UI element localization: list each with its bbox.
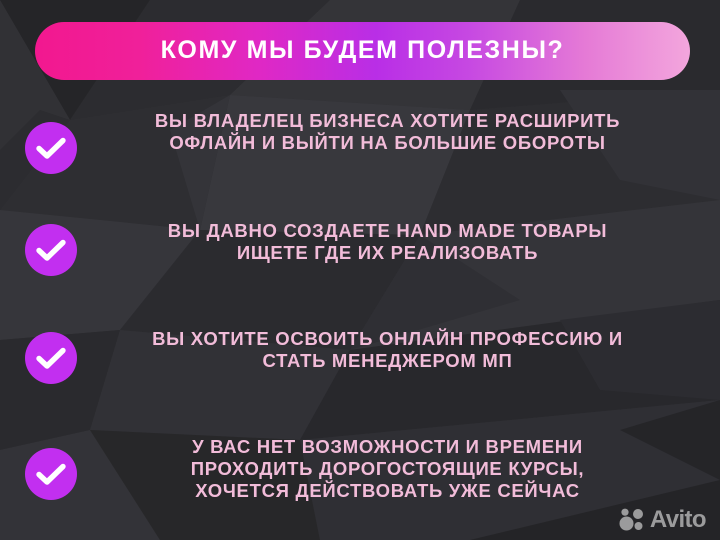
list-item: ВЫ ХОТИТЕ ОСВОИТЬ ОНЛАЙН ПРОФЕССИЮ И СТА…	[0, 326, 720, 414]
list-item-line: ОФЛАЙН И ВЫЙТИ НА БОЛЬШИЕ ОБОРОТЫ	[89, 132, 686, 154]
list-item-line: ВЫ ХОТИТЕ ОСВОИТЬ ОНЛАЙН ПРОФЕССИЮ И	[89, 328, 686, 350]
avito-wordmark: Avito	[650, 508, 706, 532]
check-icon	[25, 332, 77, 384]
check-icon	[25, 224, 77, 276]
list-item-line: ХОЧЕТСЯ ДЕЙСТВОВАТЬ УЖЕ СЕЙЧАС	[89, 480, 686, 502]
benefits-list: ВЫ ВЛАДЕЛЕЦ БИЗНЕСА ХОТИТЕ РАСШИРИТЬ ОФЛ…	[0, 108, 720, 522]
list-item-line: ПРОХОДИТЬ ДОРОГОСТОЯЩИЕ КУРСЫ,	[89, 458, 686, 480]
list-item: ВЫ ДАВНО СОЗДАЕТЕ HAND MADE ТОВАРЫ ИЩЕТЕ…	[0, 218, 720, 306]
slide-canvas: КОМУ МЫ БУДЕМ ПОЛЕЗНЫ? ВЫ ВЛАДЕЛЕЦ БИЗНЕ…	[0, 0, 720, 540]
list-item: У ВАС НЕТ ВОЗМОЖНОСТИ И ВРЕМЕНИ ПРОХОДИТ…	[0, 434, 720, 522]
list-item-text: ВЫ ВЛАДЕЛЕЦ БИЗНЕСА ХОТИТЕ РАСШИРИТЬ ОФЛ…	[89, 108, 686, 154]
page-title: КОМУ МЫ БУДЕМ ПОЛЕЗНЫ?	[161, 38, 565, 63]
list-item-line: ВЫ ВЛАДЕЛЕЦ БИЗНЕСА ХОТИТЕ РАСШИРИТЬ	[89, 110, 686, 132]
list-item-line: СТАТЬ МЕНЕДЖЕРОМ МП	[89, 350, 686, 372]
list-item-text: У ВАС НЕТ ВОЗМОЖНОСТИ И ВРЕМЕНИ ПРОХОДИТ…	[89, 434, 686, 501]
check-icon	[25, 448, 77, 500]
avito-watermark: Avito	[619, 508, 706, 532]
list-item-text: ВЫ ХОТИТЕ ОСВОИТЬ ОНЛАЙН ПРОФЕССИЮ И СТА…	[89, 326, 686, 372]
list-item-text: ВЫ ДАВНО СОЗДАЕТЕ HAND MADE ТОВАРЫ ИЩЕТЕ…	[89, 218, 686, 264]
list-item-line: У ВАС НЕТ ВОЗМОЖНОСТИ И ВРЕМЕНИ	[89, 436, 686, 458]
list-item-line: ИЩЕТЕ ГДЕ ИХ РЕАЛИЗОВАТЬ	[89, 242, 686, 264]
list-item: ВЫ ВЛАДЕЛЕЦ БИЗНЕСА ХОТИТЕ РАСШИРИТЬ ОФЛ…	[0, 108, 720, 196]
check-icon	[25, 122, 77, 174]
list-item-line: ВЫ ДАВНО СОЗДАЕТЕ HAND MADE ТОВАРЫ	[89, 220, 686, 242]
header-banner: КОМУ МЫ БУДЕМ ПОЛЕЗНЫ?	[35, 22, 690, 80]
avito-dots-icon	[619, 508, 645, 532]
